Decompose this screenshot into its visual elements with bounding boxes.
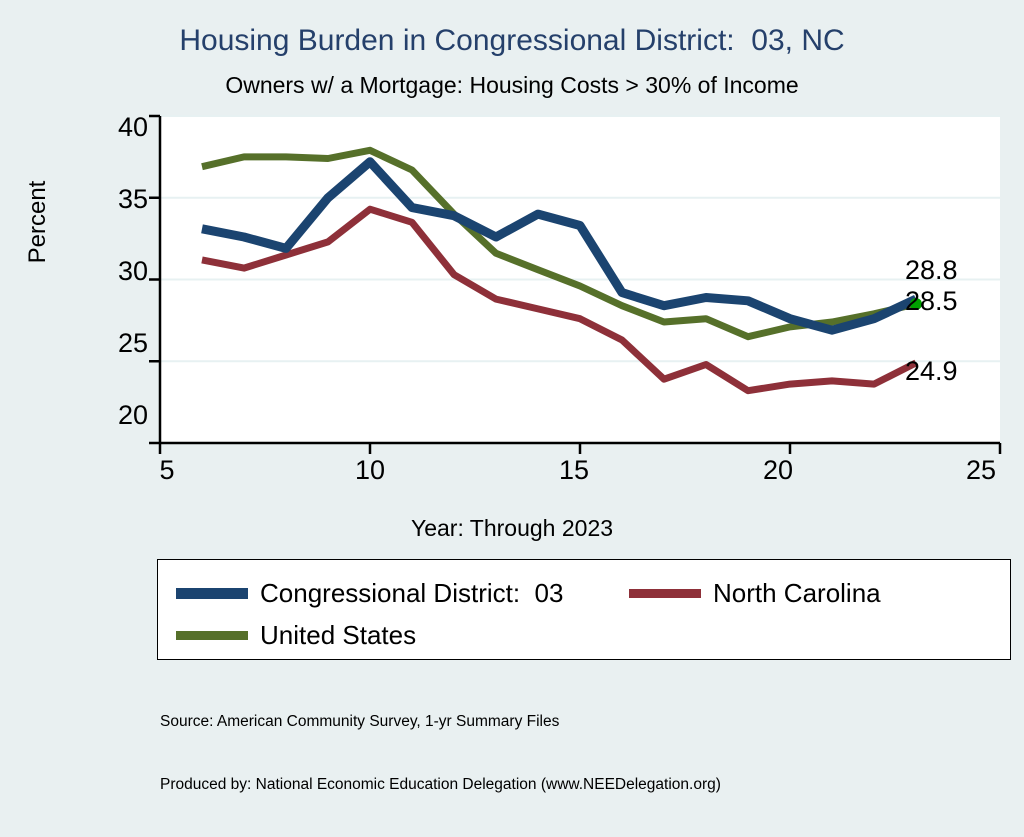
gridlines bbox=[160, 116, 1000, 443]
legend: Congressional District: 03 North Carolin… bbox=[157, 559, 1011, 660]
legend-swatch-congressional-district bbox=[176, 588, 248, 599]
end-label-district: 28.8 bbox=[905, 255, 958, 286]
legend-swatch-united-states bbox=[176, 631, 248, 640]
legend-item-congressional-district[interactable]: Congressional District: 03 bbox=[176, 580, 563, 606]
footer-produced-by: Produced by: National Economic Education… bbox=[160, 775, 721, 796]
legend-swatch-north-carolina bbox=[629, 589, 701, 598]
series-line bbox=[202, 150, 916, 336]
data-series bbox=[202, 150, 916, 390]
footer: Source: American Community Survey, 1-yr … bbox=[160, 670, 721, 837]
legend-item-north-carolina[interactable]: North Carolina bbox=[629, 580, 881, 606]
end-label-north-carolina: 24.9 bbox=[905, 356, 958, 387]
end-label-united-states: 28.5 bbox=[905, 286, 958, 317]
legend-label-north-carolina: North Carolina bbox=[713, 580, 881, 606]
legend-item-united-states[interactable]: United States bbox=[176, 622, 416, 648]
series-line bbox=[202, 209, 916, 391]
chart-figure: Housing Burden in Congressional District… bbox=[0, 0, 1024, 745]
footer-source: Source: American Community Survey, 1-yr … bbox=[160, 712, 721, 733]
legend-label-congressional-district: Congressional District: 03 bbox=[260, 580, 563, 606]
legend-label-united-states: United States bbox=[260, 622, 416, 648]
